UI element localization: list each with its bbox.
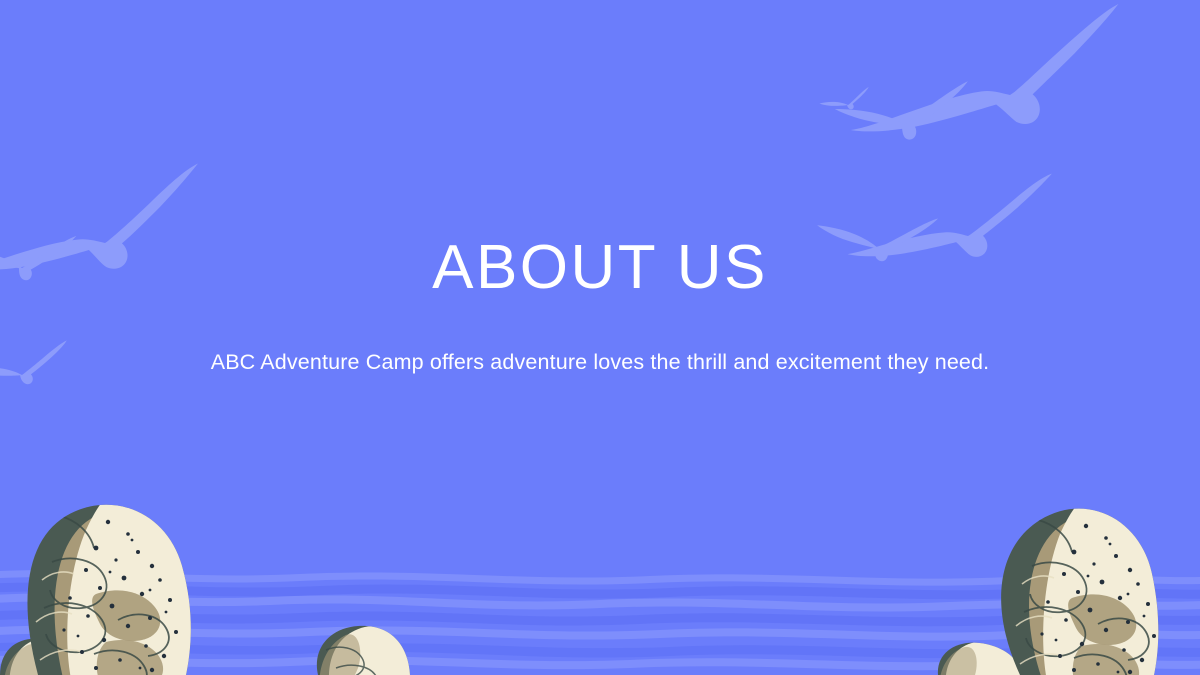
slide-subtitle: ABC Adventure Camp offers adventure love… [0, 349, 1200, 377]
page-title: ABOUT US [0, 235, 1200, 300]
about-us-slide: ABOUT US ABC Adventure Camp offers adven… [0, 0, 1200, 675]
slide-text-layer: ABOUT US ABC Adventure Camp offers adven… [0, 0, 1200, 675]
